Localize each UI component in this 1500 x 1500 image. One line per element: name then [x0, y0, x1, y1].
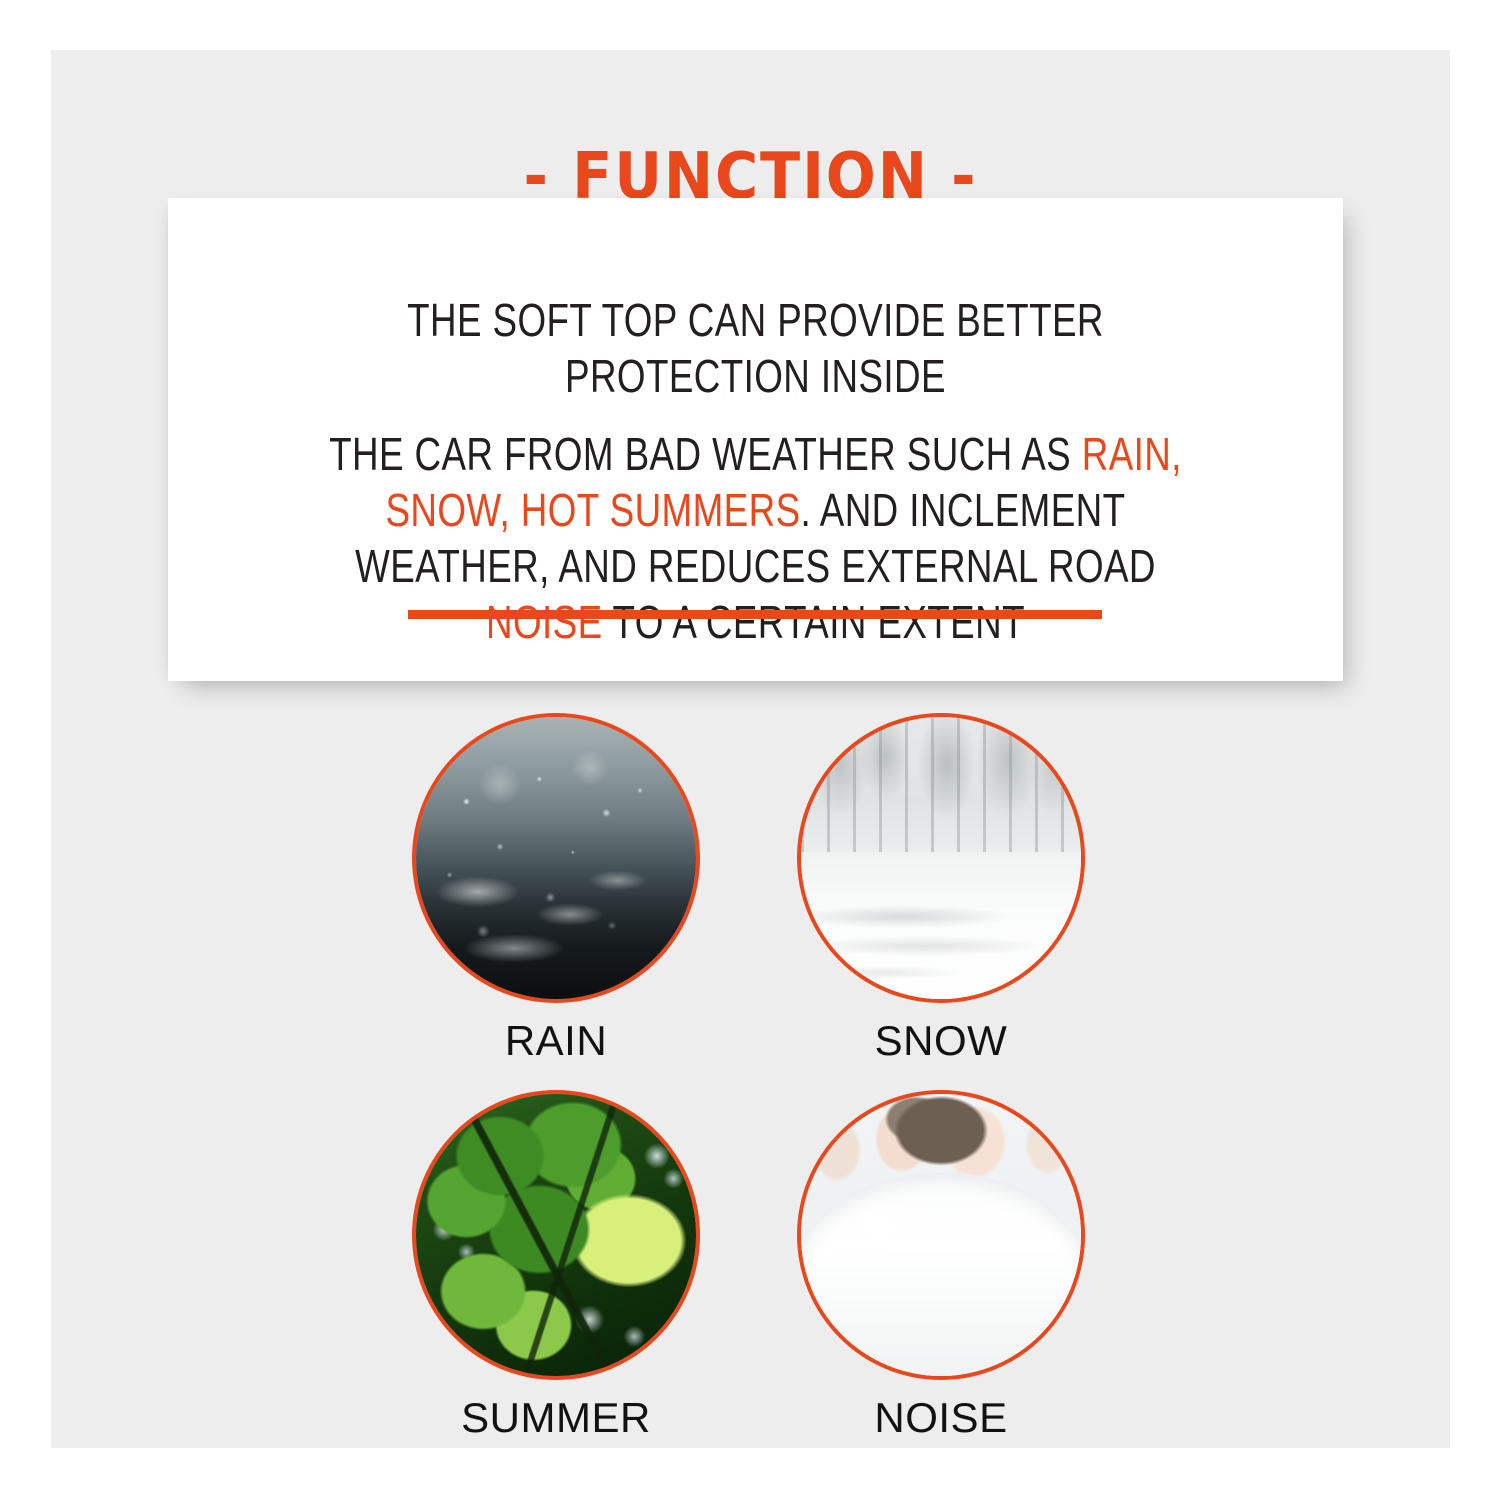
content-canvas: - FUNCTION - THE SOFT TOP CAN PROVIDE BE…	[51, 50, 1450, 1448]
rain-photo-icon	[416, 717, 696, 999]
card-accent-divider	[408, 610, 1102, 619]
noise-image-circle	[797, 1090, 1085, 1380]
feature-label-summer: SUMMER	[412, 1394, 700, 1442]
snow-photo-icon	[801, 717, 1081, 999]
feature-snow: SNOW	[797, 713, 1085, 1065]
para2-part1: THE CAR FROM BAD WEATHER SUCH AS	[329, 428, 1082, 480]
feature-label-snow: SNOW	[797, 1017, 1085, 1065]
feature-noise: NOISE	[797, 1090, 1085, 1442]
feature-rain: RAIN	[412, 713, 700, 1065]
para2-part3: TO A CERTAIN EXTENT	[603, 596, 1025, 648]
snow-image-circle	[797, 713, 1085, 1003]
noise-photo-icon	[801, 1094, 1081, 1376]
summer-image-circle	[412, 1090, 700, 1380]
summer-photo-icon	[416, 1094, 696, 1376]
para2-highlight-noise: NOISE	[486, 596, 603, 648]
description-card: THE SOFT TOP CAN PROVIDE BETTER PROTECTI…	[168, 198, 1343, 681]
feature-label-rain: RAIN	[412, 1017, 700, 1065]
rain-image-circle	[412, 713, 700, 1003]
feature-label-noise: NOISE	[797, 1394, 1085, 1442]
feature-summer: SUMMER	[412, 1090, 700, 1442]
description-paragraph-1: THE SOFT TOP CAN PROVIDE BETTER PROTECTI…	[318, 292, 1194, 404]
product-infographic-page: - FUNCTION - THE SOFT TOP CAN PROVIDE BE…	[0, 0, 1500, 1500]
